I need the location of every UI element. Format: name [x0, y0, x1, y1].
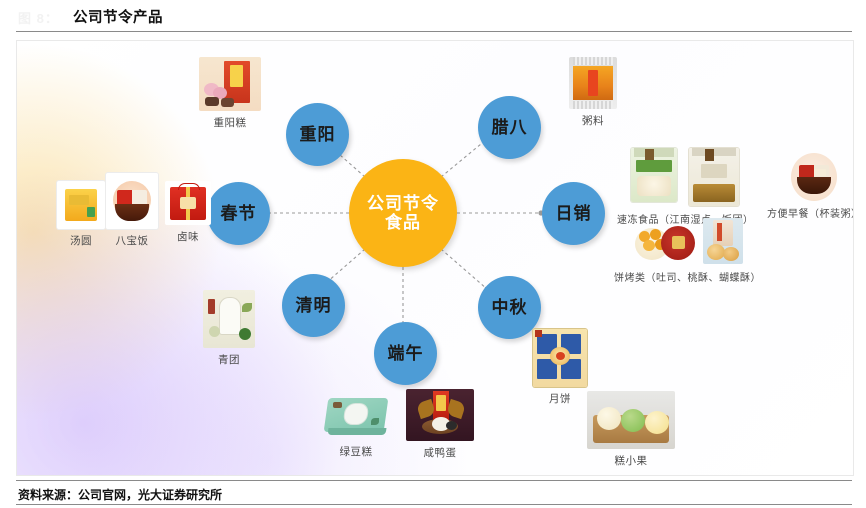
- product-image-chongyang-gao: [199, 57, 261, 111]
- product-label-zhou-liao: 粥料: [582, 113, 604, 128]
- product-bing-kaolei: 饼烤类（吐司、桃酥、蝴蝶酥）: [614, 218, 761, 284]
- hub-label-line2: 食品: [367, 213, 439, 232]
- connector-zhongqiu: [441, 249, 487, 289]
- source-note: 资料来源：公司官网，光大证券研究所: [18, 486, 222, 503]
- product-image-bingkao-a: [633, 222, 697, 264]
- product-image-fangbian-zaocan: [791, 153, 837, 201]
- product-image-gao-xiaoguo: [587, 391, 675, 449]
- product-label-xian-yadan: 咸鸭蛋: [424, 445, 457, 460]
- product-label-qing-tuan: 青团: [218, 352, 240, 367]
- product-label-bing-kaolei: 饼烤类（吐司、桃酥、蝴蝶酥）: [614, 269, 761, 284]
- product-fangbian-zaocan: 方便早餐（杯装粥）: [767, 153, 854, 220]
- product-label-chongyang-gao: 重阳糕: [214, 115, 247, 130]
- spoke-label-laba: 腊八: [492, 118, 528, 137]
- figure-canvas: 公司节令 食品 重阳 腊八 日销 中秋 端午 清明 春节 重阳糕: [16, 40, 854, 476]
- product-label-lu-wei: 卤味: [177, 229, 199, 244]
- spoke-node-laba[interactable]: 腊八: [478, 96, 541, 159]
- spoke-node-chongyang[interactable]: 重阳: [286, 103, 349, 166]
- product-image-zhou-liao: [569, 57, 617, 109]
- spoke-node-zhongqiu[interactable]: 中秋: [478, 276, 541, 339]
- product-image-xian-yadan: [406, 389, 474, 441]
- product-image-yue-bing: [533, 329, 587, 387]
- spoke-label-chongyang: 重阳: [300, 125, 336, 144]
- product-image-group-sudong: [631, 148, 739, 206]
- product-image-sudong-a: [631, 148, 677, 202]
- header: 图 8： 公司节令产品: [0, 0, 866, 34]
- spoke-label-duanwu: 端午: [388, 344, 424, 363]
- spoke-node-qingming[interactable]: 清明: [282, 274, 345, 337]
- spoke-label-rixiao: 日销: [556, 204, 592, 223]
- product-label-fangbian-zaocan: 方便早餐（杯装粥）: [767, 205, 854, 220]
- hub-label: 公司节令 食品: [367, 194, 439, 232]
- product-image-sudong-b: [689, 148, 739, 206]
- product-label-lvdou-gao: 绿豆糕: [340, 444, 373, 459]
- hub-label-line1: 公司节令: [367, 194, 439, 213]
- footer-divider-top: [16, 480, 852, 481]
- product-label-yue-bing: 月饼: [549, 391, 571, 406]
- figure-number: 图 8：: [18, 8, 59, 27]
- product-label-babao-fan: 八宝饭: [116, 233, 149, 248]
- product-image-lvdou-gao: [323, 392, 389, 440]
- product-chongyang-gao: 重阳糕: [199, 57, 261, 130]
- header-divider: [16, 31, 852, 32]
- product-image-qing-tuan: [203, 290, 255, 348]
- page-title: 公司节令产品: [73, 6, 163, 27]
- spoke-label-zhongqiu: 中秋: [492, 298, 528, 317]
- product-image-group-bingkao: [633, 218, 743, 264]
- product-label-gao-xiaoguo: 糕小果: [615, 453, 648, 468]
- product-lu-wei: 卤味: [165, 181, 211, 244]
- product-yue-bing: 月饼: [533, 329, 587, 406]
- product-gao-xiaoguo: 糕小果: [587, 391, 675, 468]
- product-lvdou-gao: 绿豆糕: [323, 392, 389, 459]
- spoke-label-chunjie: 春节: [221, 204, 257, 223]
- product-label-tang-yuan: 汤圆: [70, 233, 92, 248]
- footer-divider-bottom: [16, 504, 852, 505]
- product-image-lu-wei: [165, 181, 211, 225]
- product-qing-tuan: 青团: [203, 290, 255, 367]
- spoke-label-qingming: 清明: [296, 296, 332, 315]
- product-zhou-liao: 粥料: [569, 57, 617, 128]
- product-image-bingkao-b: [703, 218, 743, 264]
- connector-laba: [441, 139, 487, 177]
- hub-node-company-seasonal-food[interactable]: 公司节令 食品: [349, 159, 457, 267]
- product-image-babao-fan: [106, 173, 158, 229]
- spoke-node-chunjie[interactable]: 春节: [207, 182, 270, 245]
- product-image-tang-yuan: [57, 181, 105, 229]
- product-xian-yadan: 咸鸭蛋: [406, 389, 474, 460]
- spoke-node-rixiao[interactable]: 日销: [542, 182, 605, 245]
- product-sudong-shipin: 速冻食品（江南湿点、饭团）: [617, 148, 754, 226]
- product-tang-yuan: 汤圆: [57, 181, 105, 248]
- spoke-node-duanwu[interactable]: 端午: [374, 322, 437, 385]
- product-babao-fan: 八宝饭: [106, 173, 158, 248]
